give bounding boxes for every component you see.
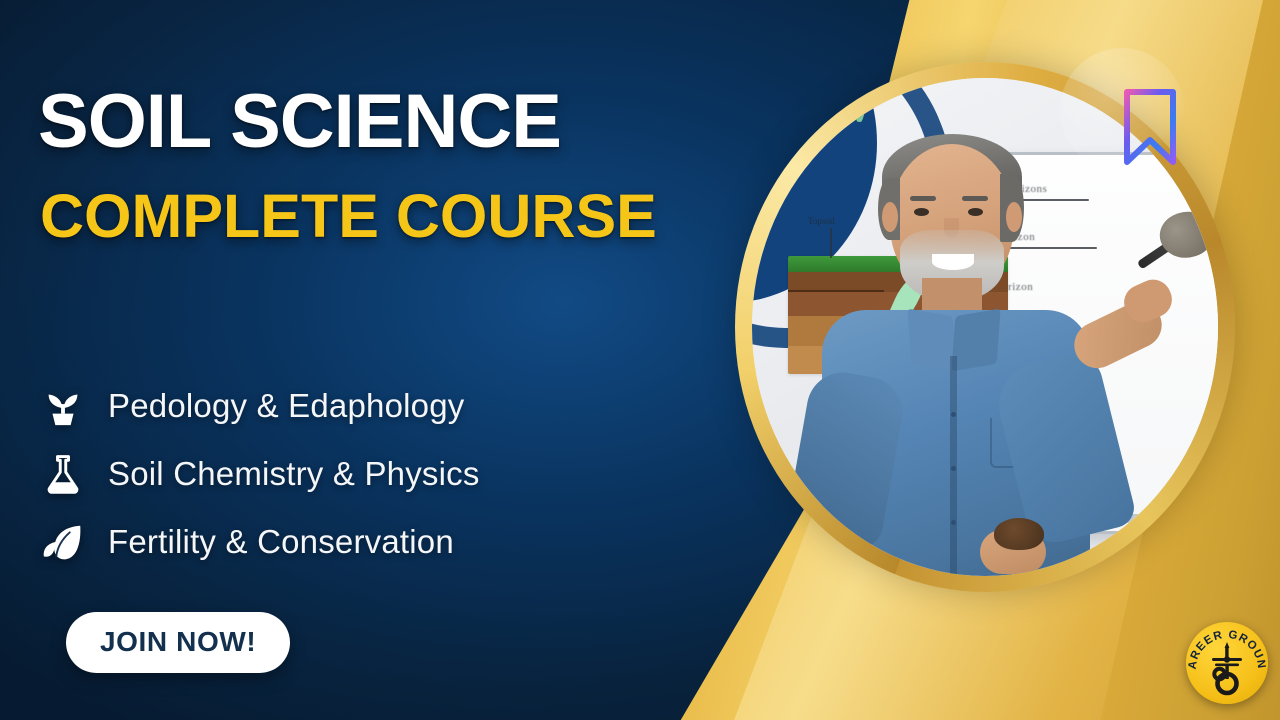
instructor-eye-right [968, 208, 983, 216]
soil-sample-handful [994, 518, 1044, 550]
instructor-figure [804, 126, 1104, 576]
list-item-label: Fertility & Conservation [108, 523, 454, 561]
instructor-brow-right [962, 196, 988, 201]
list-item-label: Soil Chemistry & Physics [108, 455, 480, 493]
instructor-ear-left [882, 202, 898, 232]
shirt-button [951, 412, 956, 417]
banner-content: SOIL SCIENCE COMPLETE COURSE Pedology & … [34, 0, 754, 720]
shirt-button [951, 520, 956, 525]
join-now-button[interactable]: JOIN NOW! [66, 612, 290, 673]
leaves-icon [34, 513, 92, 571]
instructor-collar-right [951, 309, 1000, 372]
list-item: Pedology & Edaphology [34, 372, 674, 440]
torch-emblem-icon [1212, 642, 1242, 693]
shirt-button [951, 466, 956, 471]
page-title: SOIL SCIENCE [38, 84, 561, 160]
list-item: Soil Chemistry & Physics [34, 440, 674, 508]
instructor-smile [932, 254, 974, 270]
brand-logo-badge[interactable]: CAREER GROUND [1186, 622, 1268, 704]
join-now-label: JOIN NOW! [100, 626, 256, 658]
course-promo-banner: Horizons A horizon B horizon Org. matter… [0, 0, 1280, 720]
seedling-icon [34, 377, 92, 435]
feature-list: Pedology & Edaphology Soil Chemistry & P… [34, 372, 674, 576]
instructor-ear-right [1006, 202, 1022, 232]
list-item-label: Pedology & Edaphology [108, 387, 464, 425]
flask-icon [34, 445, 92, 503]
instructor-brow-left [910, 196, 936, 201]
page-subtitle: COMPLETE COURSE [40, 186, 657, 247]
bookmark-outline-icon [1122, 88, 1178, 166]
list-item: Fertility & Conservation [34, 508, 674, 576]
instructor-eye-left [914, 208, 929, 216]
